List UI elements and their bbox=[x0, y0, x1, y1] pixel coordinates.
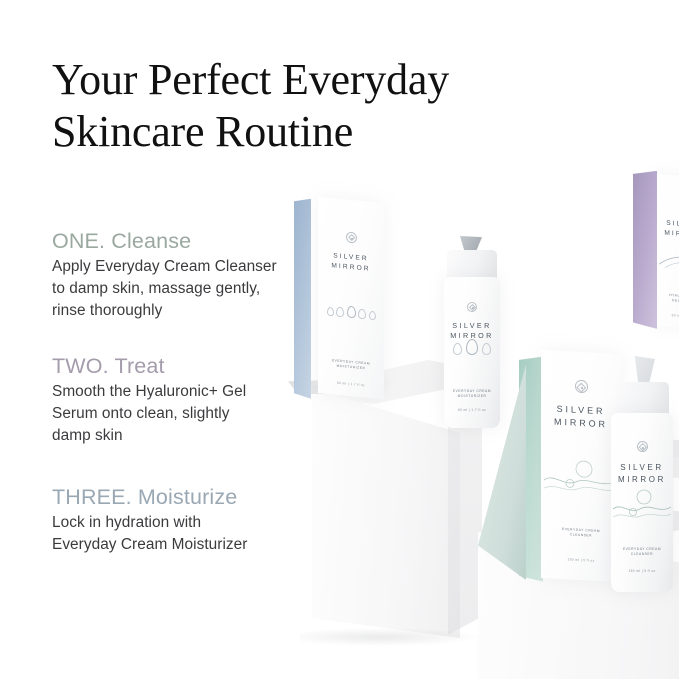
brand-logo-serum: SILVER MIRROR bbox=[655, 196, 679, 241]
product-volume-cleanser-bottle: 150 ml | 5 fl oz bbox=[611, 569, 673, 574]
water-drop-icon bbox=[347, 306, 356, 319]
silver-mirror-logo-icon bbox=[467, 302, 477, 312]
page-title-line-1: Your Perfect Everyday bbox=[52, 54, 612, 106]
bottle-body-moisturizer: SILVER MIRROR EVERYDAY CREAM MOISTURIZER… bbox=[444, 277, 500, 428]
pedestal-left-front bbox=[312, 388, 460, 638]
bottle-cap-moisturizer bbox=[447, 250, 497, 280]
brand-logo-cleanser: SILVER MIRROR bbox=[541, 378, 621, 432]
brand-name-cleanser: SILVER MIRROR bbox=[541, 402, 621, 432]
silver-mirror-logo-icon bbox=[346, 231, 357, 243]
box-spine-moisturizer bbox=[294, 197, 311, 399]
water-drop-icon bbox=[327, 307, 334, 317]
product-bottle-cleanser: SILVER MIRROR EVERYDAY CREAM CLEANSER 15… bbox=[611, 382, 673, 592]
page-title: Your Perfect Everyday Skincare Routine bbox=[52, 54, 612, 158]
water-drop-icon bbox=[369, 311, 376, 321]
water-drop-icons-moisturizer-bottle bbox=[444, 339, 500, 355]
bottle-cap-cleanser bbox=[615, 382, 669, 416]
water-drop-icon bbox=[453, 343, 462, 355]
product-volume-moisturizer-bottle: 50 ml | 1.7 fl oz bbox=[444, 408, 500, 413]
water-drop-icon bbox=[336, 306, 344, 317]
water-drop-icon bbox=[482, 343, 491, 355]
product-bottle-moisturizer: SILVER MIRROR EVERYDAY CREAM MOISTURIZER… bbox=[444, 250, 500, 428]
product-box-serum: SILVER MIRROR HYALURONIC+ GEL SERUM 30 m… bbox=[655, 174, 679, 330]
water-drop-icon bbox=[358, 308, 366, 319]
product-photo-composition: SILVER MIRROR EVERYDAY CREAM MOISTURIZER… bbox=[300, 150, 679, 679]
brand-logo-moisturizer: SILVER MIRROR bbox=[318, 227, 384, 275]
floor-shadow-left bbox=[300, 628, 480, 646]
serum-swoosh-graphic bbox=[657, 250, 679, 274]
product-label-cleanser-bottle: EVERYDAY CREAM CLEANSER bbox=[611, 547, 673, 557]
product-box-moisturizer: SILVER MIRROR EVERYDAY CREAM MOISTURIZER… bbox=[318, 197, 384, 399]
cleanser-wave-graphic bbox=[544, 458, 618, 502]
cleanser-wave-graphic-bottle bbox=[613, 489, 671, 527]
brand-name-bottle-cleanser: SILVER MIRROR bbox=[611, 462, 673, 485]
brand-logo-bottle-moisturizer: SILVER MIRROR bbox=[444, 299, 500, 342]
box-spine-serum bbox=[633, 169, 657, 329]
silver-mirror-logo-icon bbox=[637, 441, 648, 452]
bottle-body-cleanser: SILVER MIRROR EVERYDAY CREAM CLEANSER 15… bbox=[611, 413, 673, 592]
product-label-moisturizer-bottle: EVERYDAY CREAM MOISTURIZER bbox=[444, 389, 500, 399]
brand-logo-bottle-cleanser: SILVER MIRROR bbox=[611, 439, 673, 485]
product-box-cleanser: SILVER MIRROR EVERYDAY CREAM CLEANSER 15… bbox=[541, 350, 621, 582]
water-drop-icon bbox=[466, 339, 478, 355]
pedestal-left-side bbox=[448, 403, 482, 635]
silver-mirror-logo-icon bbox=[575, 380, 588, 394]
